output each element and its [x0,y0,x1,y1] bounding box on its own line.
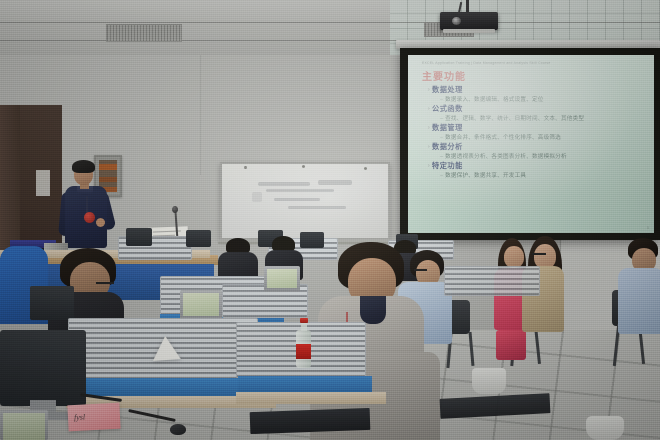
sticky-note: fysl [67,403,120,432]
slide-title: 主要功能 [422,68,466,83]
slide-section: ›数据分析 – 数据透视表分析、各类图表分析、数据模拟分析 [428,142,646,160]
desk-front-right [236,392,386,404]
slide-section: ›数据处理 – 数据录入、数据编辑、格式设置、定位 [428,85,646,103]
collar [360,296,386,324]
wall-notice-paper [36,170,50,196]
slide-section: ›公式函数 – 查找、逻辑、数学、统计、日期时间、文本、其他类型 [428,104,646,122]
keyboard [250,408,371,434]
slide-section-detail: – 数据透视表分析、各类图表分析、数据模拟分析 [440,152,646,160]
slide-section-detail: – 查找、逻辑、数学、统计、日期时间、文本、其他类型 [440,114,646,122]
slide-section: ›特定功能 – 数据保护、数据共享、开发工具 [428,161,646,179]
stacked-stool [472,368,506,394]
monitor [126,228,152,246]
monitor-foreground [0,330,86,406]
slide-section-detail: – 数据录入、数据编辑、格式设置、定位 [440,95,646,103]
coca-cola-label [296,344,311,359]
stacked-stool [586,416,624,440]
slide-section-heading: ›公式函数 [428,104,646,114]
microphone-head-icon [172,206,178,213]
projection-screen: EXCEL Application Training | Data Manage… [408,55,654,233]
slide-bullet-list: ›数据处理 – 数据录入、数据编辑、格式设置、定位 ›公式函数 – 查找、逻辑、… [428,85,646,180]
monitor [300,232,324,248]
bottle-cap [300,318,308,323]
slide-section-heading: ›特定功能 [428,161,646,171]
monitor-screen [183,293,219,316]
monitor [186,230,211,247]
ceiling-vent [106,24,182,42]
projector-bracket [443,29,495,33]
mouse [170,424,186,435]
slide-header-text: EXCEL Application Training | Data Manage… [422,61,644,65]
presenter-hair [72,160,95,173]
sticky-note-text: fysl [74,412,86,422]
monitor-screen-foreground [3,413,45,440]
slide-section-heading: ›数据管理 [428,123,646,133]
monitor-screen [267,269,297,288]
monitor [30,286,74,320]
whiteboard [220,162,390,240]
cubicle-divider [444,266,540,296]
slide-section-heading: ›数据分析 [428,142,646,152]
slide-section: ›数据管理 – 数据合并、条件格式、个性化排序、高级筛选 [428,123,646,141]
slide-section-detail: – 数据合并、条件格式、个性化排序、高级筛选 [440,133,646,141]
paper-tent-card [151,335,181,361]
classroom-photo: EXCEL Application Training | Data Manage… [0,0,660,440]
presenter-hand [96,218,105,227]
slide-section-heading: ›数据处理 [428,85,646,95]
slide-page-number: 5 [647,226,649,230]
slide-section-detail: – 数据保护、数据共享、开发工具 [440,171,646,179]
ceiling-projector [440,12,498,30]
bottle-neck [301,322,307,331]
presenter-badge [84,212,95,223]
projector-lens-icon [452,17,461,25]
